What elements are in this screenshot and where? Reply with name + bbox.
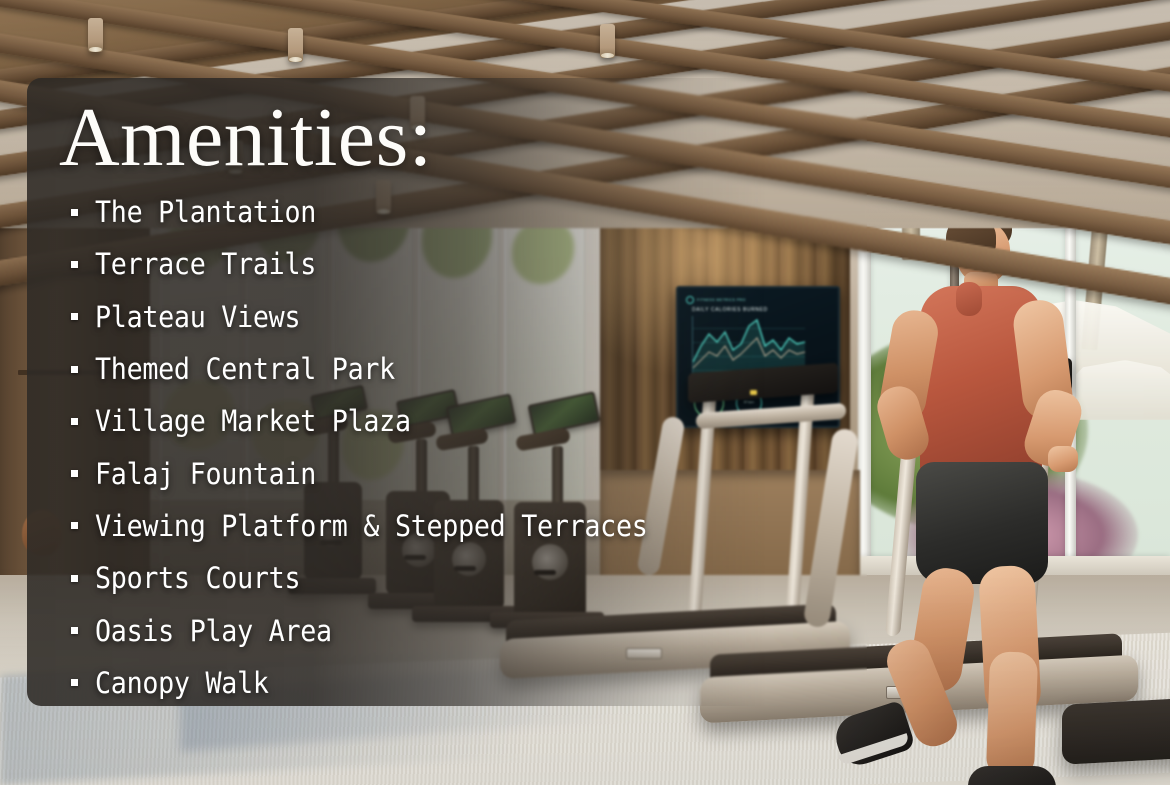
amenities-list: The Plantation Terrace Trails Plateau Vi… [57,186,867,709]
square-bullet-icon [71,418,78,425]
square-bullet-icon [71,366,78,373]
list-item: Sports Courts [71,552,867,604]
slide-canvas: FITNESS METRICS PRO DAILY CALORIES BURNE… [0,0,1170,785]
list-item: Plateau Views [71,291,867,343]
amenity-label: Sports Courts [95,561,300,595]
ceiling-spotlight [88,18,103,52]
list-item: Canopy Walk [71,657,867,709]
page-title: Amenities: [59,96,867,180]
amenities-overlay-panel: Amenities: The Plantation Terrace Trails… [27,78,867,706]
square-bullet-icon [71,209,78,216]
ceiling-spotlight [600,24,615,58]
list-item: Village Market Plaza [71,395,867,447]
square-bullet-icon [71,522,78,529]
runner-shorts [916,462,1048,584]
list-item: Viewing Platform & Stepped Terraces [71,500,867,552]
square-bullet-icon [71,261,78,268]
amenity-label: Themed Central Park [95,352,395,386]
amenity-label: The Plantation [95,195,316,229]
square-bullet-icon [71,470,78,477]
amenity-label: Terrace Trails [95,247,316,281]
amenity-label: Viewing Platform & Stepped Terraces [95,509,648,543]
amenity-label: Plateau Views [95,300,300,334]
list-item: Themed Central Park [71,343,867,395]
square-bullet-icon [71,575,78,582]
runner-right-hand [1048,446,1078,472]
amenity-label: Falaj Fountain [95,457,316,491]
square-bullet-icon [71,627,78,634]
amenity-label: Oasis Play Area [95,614,332,648]
list-item: Terrace Trails [71,238,867,290]
list-item: Oasis Play Area [71,604,867,656]
amenity-label: Village Market Plaza [95,404,411,438]
list-item: Falaj Fountain [71,447,867,499]
runner-right-shoe [968,766,1056,785]
square-bullet-icon [71,679,78,686]
square-bullet-icon [71,313,78,320]
runner-tank-strap [956,282,982,316]
amenity-label: Canopy Walk [95,666,269,700]
runner-right-calf [986,651,1038,779]
ceiling-spotlight [288,28,303,62]
list-item: The Plantation [71,186,867,238]
